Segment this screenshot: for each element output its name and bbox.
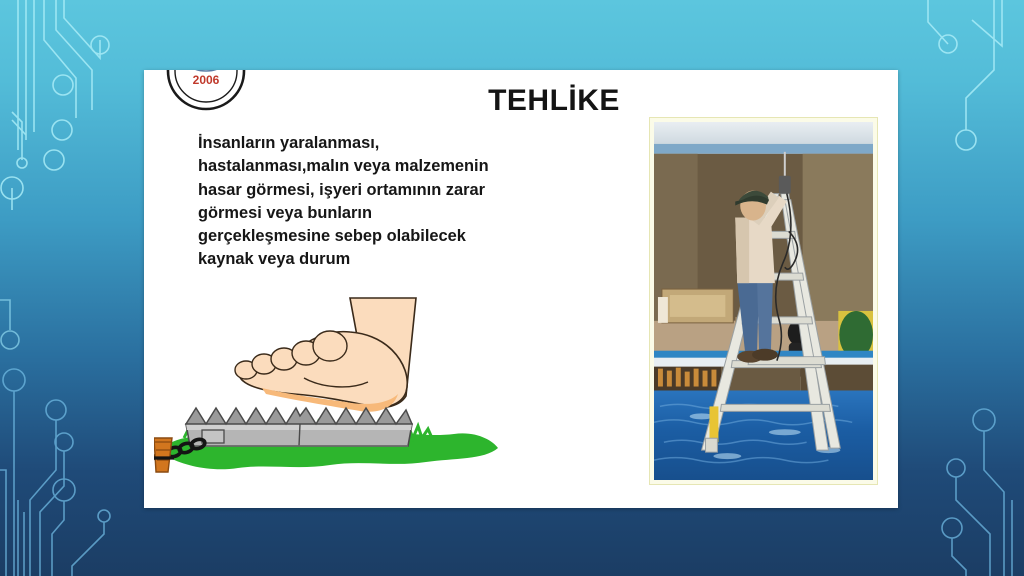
circuit-border-left: [0, 0, 150, 576]
hazard-definition-text: İnsanların yaralanması, hastalanması,mal…: [198, 132, 618, 272]
worker-ladder-pool-photo: [649, 117, 878, 485]
definition-line: kaynak veya durum: [198, 248, 618, 271]
definition-line: gerçekleşmesine sebep olabilecek: [198, 225, 618, 248]
slide-content-card: 2006 TEHLİKE İnsanların yaralanması, has…: [144, 70, 898, 508]
definition-line: görmesi veya bunların: [198, 202, 618, 225]
definition-line: hasar görmesi, işyeri ortamının zarar: [198, 179, 618, 202]
slide-title: TEHLİKE: [354, 84, 754, 118]
definition-line: İnsanların yaralanması,: [198, 132, 618, 155]
definition-line: hastalanması,malın veya malzemenin: [198, 155, 618, 178]
foot-over-bear-trap-illustration: [154, 292, 574, 500]
institution-emblem-icon: 2006: [161, 70, 251, 116]
emblem-year: 2006: [193, 73, 220, 87]
slide-stage: 2006 TEHLİKE İnsanların yaralanması, has…: [0, 0, 1024, 576]
